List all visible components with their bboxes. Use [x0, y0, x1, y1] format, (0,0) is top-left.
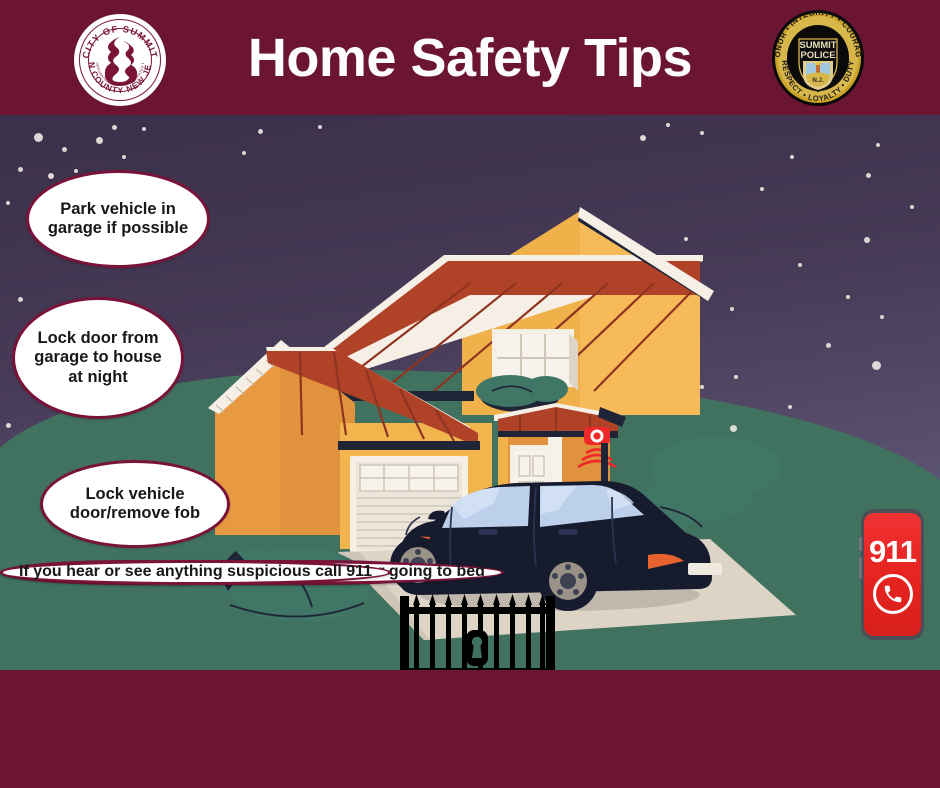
svg-text:CITY OF SUMMIT: CITY OF SUMMIT [80, 24, 159, 60]
bubble-text: Lock vehicle door/remove fob [43, 485, 227, 524]
phone-handset-icon [873, 574, 913, 614]
header-bar: CITY OF SUMMIT UNION COUNTY NEW JERSEY I… [0, 0, 940, 115]
bubble-text: Lock door from garage to house at night [15, 329, 181, 387]
keyhole-icon [466, 630, 488, 666]
upstairs-window-shadow [569, 334, 578, 391]
garage-roof-eave [338, 441, 480, 450]
phone-911-graphic[interactable]: 911 [861, 509, 924, 640]
badge-state-abbr: N.J. [812, 77, 824, 84]
page-title: Home Safety Tips [170, 0, 770, 115]
bubble-text: Park vehicle in garage if possible [29, 200, 207, 239]
car-door-handle-rear [558, 529, 578, 535]
seal-top-text: CITY OF SUMMIT [80, 24, 159, 60]
phone-911-number: 911 [869, 536, 916, 567]
car-door-handle-front [478, 529, 498, 535]
house-main-wall-light [580, 211, 700, 415]
tip-lock-door-from-garage[interactable]: Lock door from garage to house at night [12, 297, 184, 419]
summit-police-badge: HONOR • INTEGRITY • COURAGE RESPECT • LO… [770, 8, 866, 108]
seal-emblem [105, 37, 137, 86]
city-of-summit-seal: CITY OF SUMMIT UNION COUNTY NEW JERSEY I… [74, 14, 166, 106]
bubble-text: If you hear or see anything suspicious c… [3, 563, 388, 582]
badge-center-line2: POLICE [801, 49, 836, 60]
tip-lock-vehicle-remove-fob[interactable]: Lock vehicle door/remove fob [40, 460, 230, 548]
car-license-plate [688, 563, 722, 575]
home-safety-tips-poster: 911 Park vehicle in garage if possible L… [0, 0, 940, 788]
bush-left [218, 547, 370, 623]
tip-call-911[interactable]: If you hear or see anything suspicious c… [0, 560, 391, 585]
tip-park-vehicle-in-garage[interactable]: Park vehicle in garage if possible [26, 170, 210, 268]
